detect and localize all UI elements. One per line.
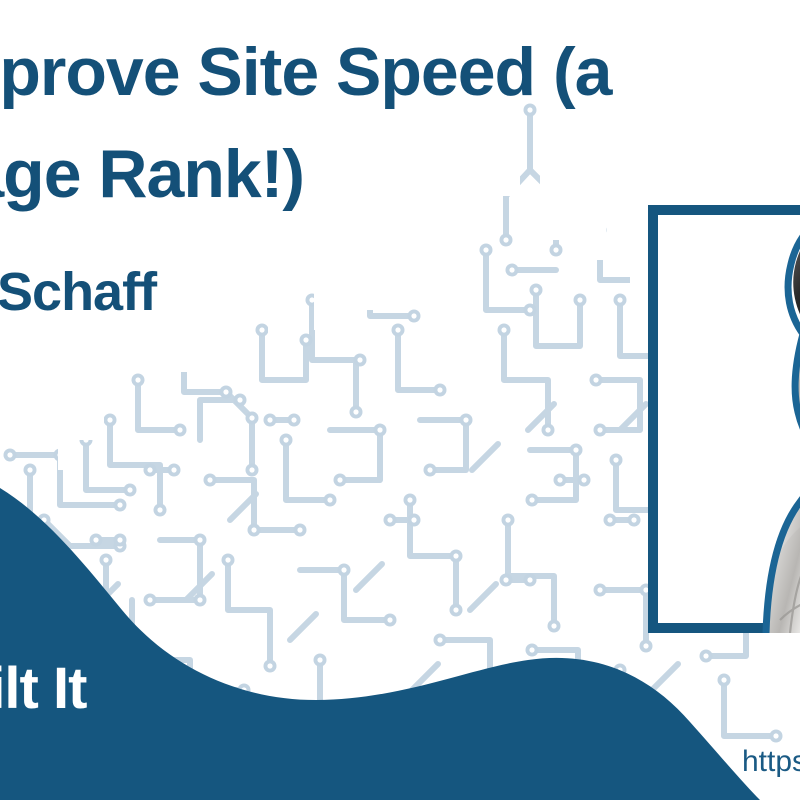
- show-title: Built It: [0, 655, 86, 722]
- speaker-name: dy Schaff: [0, 265, 156, 319]
- podcast-episode-cover: Improve Site Speed (a Page Rank!) dy Sch…: [0, 0, 800, 800]
- episode-title-line-2: Page Rank!): [0, 140, 304, 208]
- episode-title-line-1: Improve Site Speed (a: [0, 38, 611, 106]
- site-url: https: [742, 745, 800, 779]
- speaker-photo: [648, 150, 800, 633]
